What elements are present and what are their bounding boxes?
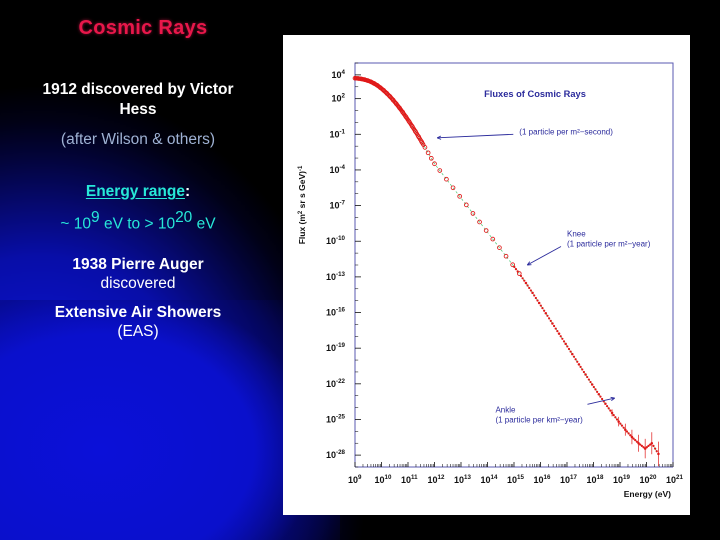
data-point xyxy=(619,423,621,425)
data-point xyxy=(583,371,585,373)
flux-spectrum-svg: 10410210-110-410-710-1010-1310-1610-1910… xyxy=(283,35,690,515)
x-tick-label: 1018 xyxy=(587,474,604,485)
data-point xyxy=(624,428,627,431)
x-tick-label: 1011 xyxy=(401,474,418,485)
energy-range-middle: eV to > 10 xyxy=(100,215,175,232)
data-point xyxy=(560,335,562,337)
data-point xyxy=(599,396,601,398)
data-point xyxy=(571,353,574,356)
bullet-line-1-text: 1912 discovered by Victor xyxy=(43,81,234,98)
bullet-line-eas: Extensive Air Showers xyxy=(0,303,276,322)
auger-year-text: 1938 Pierre Auger xyxy=(72,256,203,273)
data-point xyxy=(581,368,583,370)
bullet-line-3-attribution: (after Wilson & others) xyxy=(0,130,276,149)
y-axis-label: Flux (m2 sr s GeV)-1 xyxy=(297,165,307,244)
x-tick-label: 1017 xyxy=(560,474,577,485)
energy-range-exponent-high: 20 xyxy=(175,209,192,226)
data-point xyxy=(642,446,644,448)
data-point xyxy=(543,310,545,312)
chart-title: Fluxes of Cosmic Rays xyxy=(484,89,586,99)
data-point xyxy=(632,438,634,440)
data-point xyxy=(451,186,455,190)
data-point xyxy=(629,434,631,436)
annotation-one-particle-per-m2-second-line-1: (1 particle per m²−second) xyxy=(519,127,613,136)
x-tick-label: 1013 xyxy=(454,474,471,485)
data-point xyxy=(634,439,636,441)
data-point xyxy=(576,361,578,363)
data-point xyxy=(652,445,654,447)
data-point xyxy=(594,388,596,390)
data-point xyxy=(504,254,508,258)
data-point xyxy=(657,453,660,456)
energy-range-value: ~ 109 eV to > 1020 eV xyxy=(0,208,276,233)
data-point xyxy=(601,398,603,400)
y-tick-label: 10-10 xyxy=(326,235,346,246)
y-tick-label: 104 xyxy=(332,69,346,80)
y-tick-label: 102 xyxy=(332,93,346,104)
annotation-ankle-line-1: Ankle xyxy=(495,405,516,414)
data-point xyxy=(563,340,565,342)
data-point xyxy=(536,299,538,301)
annotation-knee-line-1: Knee xyxy=(567,229,586,238)
data-point xyxy=(535,297,537,299)
data-point xyxy=(555,327,557,329)
data-point xyxy=(526,284,528,286)
data-point xyxy=(586,376,588,378)
data-point xyxy=(609,410,611,412)
data-point xyxy=(588,378,590,380)
slide-canvas: Cosmic Rays 1912 discovered by Victor He… xyxy=(0,0,720,540)
data-point xyxy=(628,432,630,434)
data-point xyxy=(621,425,623,427)
data-point xyxy=(538,302,541,305)
x-tick-label: 1021 xyxy=(666,474,683,485)
data-point xyxy=(541,307,543,309)
data-point xyxy=(531,292,534,295)
data-point xyxy=(517,270,519,272)
data-point xyxy=(523,280,525,282)
data-point xyxy=(561,338,563,340)
eas-text: Extensive Air Showers xyxy=(55,304,222,321)
data-point xyxy=(528,287,530,289)
data-point xyxy=(598,393,601,396)
bullet-line-eas-abbrev: (EAS) xyxy=(0,322,276,341)
data-point xyxy=(617,420,620,423)
eas-abbrev-text: (EAS) xyxy=(117,323,158,340)
data-point xyxy=(608,407,610,409)
data-point xyxy=(584,373,587,376)
data-point xyxy=(626,430,628,432)
data-point xyxy=(545,312,548,315)
chart-panel: 10410210-110-410-710-1010-1310-1610-1910… xyxy=(283,35,690,515)
annotation-knee-line-2: (1 particle per m²−year) xyxy=(567,239,651,248)
y-tick-label: 10-19 xyxy=(326,342,346,353)
data-point xyxy=(558,332,561,335)
energy-range-colon: : xyxy=(185,183,190,200)
energy-range-exponent-low: 9 xyxy=(91,209,100,226)
annotation-ankle-line-2: (1 particle per km²−year) xyxy=(495,415,583,424)
x-tick-label: 1015 xyxy=(507,474,524,485)
data-point xyxy=(604,403,607,406)
discovered-text: discovered xyxy=(101,275,176,292)
data-point xyxy=(614,416,616,418)
bullet-line-2-text: Hess xyxy=(119,101,156,118)
x-tick-label: 1020 xyxy=(640,474,657,485)
data-point xyxy=(636,441,638,443)
x-axis-label: Energy (eV) xyxy=(624,489,671,499)
data-point xyxy=(606,405,608,407)
data-point xyxy=(522,277,524,279)
bullet-line-discovered: discovered xyxy=(0,274,276,293)
data-point xyxy=(654,447,656,449)
data-point xyxy=(578,363,581,366)
y-tick-label: 10-1 xyxy=(329,128,345,139)
data-point xyxy=(591,383,594,386)
x-tick-label: 1016 xyxy=(534,474,551,485)
x-tick-label: 1010 xyxy=(375,474,392,485)
bullet-line-1: 1912 discovered by Victor xyxy=(0,80,276,99)
data-point xyxy=(513,266,515,268)
y-tick-label: 10-7 xyxy=(329,200,345,211)
data-point xyxy=(616,418,618,420)
data-point xyxy=(573,356,575,358)
data-point xyxy=(613,414,615,416)
y-tick-label: 10-28 xyxy=(326,449,346,460)
data-point xyxy=(533,294,535,296)
attribution-text: (after Wilson & others) xyxy=(61,131,215,148)
data-point xyxy=(515,268,517,270)
energy-range-label: Energy range xyxy=(86,183,185,200)
data-point xyxy=(426,151,430,155)
data-point xyxy=(575,358,577,360)
x-tick-label: 1014 xyxy=(481,474,498,485)
data-point xyxy=(551,322,554,325)
data-point xyxy=(546,315,548,317)
x-tick-label: 1012 xyxy=(428,474,445,485)
data-point xyxy=(550,320,552,322)
data-point xyxy=(568,348,570,350)
energy-range-suffix: eV xyxy=(192,215,215,232)
annotation-leader-one-particle-per-m2-second xyxy=(437,134,513,138)
y-tick-label: 10-4 xyxy=(329,164,345,175)
slide-text-column: Cosmic Rays 1912 discovered by Victor He… xyxy=(0,0,276,540)
y-tick-label: 10-13 xyxy=(326,271,346,282)
bullet-line-auger: 1938 Pierre Auger xyxy=(0,255,276,274)
data-point xyxy=(548,317,550,319)
data-point xyxy=(593,386,595,388)
data-point xyxy=(566,345,568,347)
y-tick-label: 10-16 xyxy=(326,307,346,318)
data-point xyxy=(553,325,555,327)
energy-range-prefix: ~ 10 xyxy=(60,215,91,232)
data-point xyxy=(564,343,567,346)
data-point xyxy=(570,350,572,352)
data-point xyxy=(484,229,488,233)
cosmic-ray-flux-plot: 10410210-110-410-710-1010-1310-1610-1910… xyxy=(283,35,690,515)
data-point xyxy=(656,450,658,452)
data-point xyxy=(530,289,532,291)
data-point xyxy=(589,381,591,383)
annotation-leader-knee xyxy=(527,246,561,265)
data-point xyxy=(649,443,651,445)
data-point xyxy=(611,412,614,415)
data-point xyxy=(556,330,558,332)
data-point xyxy=(623,427,625,429)
y-tick-label: 10-25 xyxy=(326,413,346,424)
page-title: Cosmic Rays xyxy=(0,17,276,40)
data-point xyxy=(525,282,528,285)
data-point xyxy=(520,275,522,277)
energy-range-heading: Energy range: xyxy=(0,183,276,201)
bullet-line-2: Hess xyxy=(0,100,276,119)
data-point xyxy=(540,304,542,306)
y-tick-label: 10-22 xyxy=(326,378,346,389)
x-tick-label: 1019 xyxy=(613,474,630,485)
data-point xyxy=(445,177,449,181)
data-point xyxy=(596,391,598,393)
data-point xyxy=(464,203,468,207)
x-tick-label: 109 xyxy=(348,474,362,485)
data-point xyxy=(579,366,581,368)
